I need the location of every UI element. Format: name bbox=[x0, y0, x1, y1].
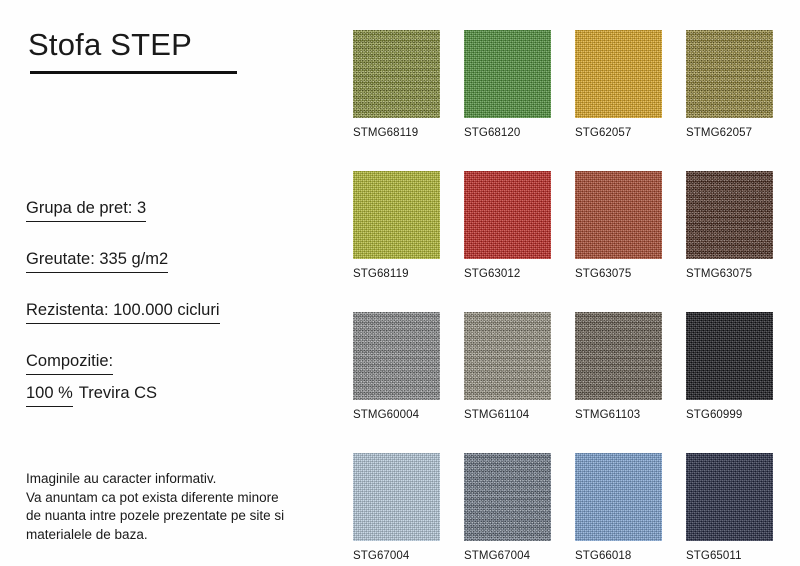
swatch-code-label: STG62057 bbox=[575, 127, 662, 140]
disclaimer-line-3: de nuanta intre pozele prezentate pe sit… bbox=[26, 507, 326, 526]
spec-row-weight: Greutate: 335 g/m2 bbox=[26, 249, 326, 273]
disclaimer-line-1: Imaginile au caracter informativ. bbox=[26, 470, 326, 489]
swatch-code-label: STG68119 bbox=[353, 268, 440, 281]
fabric-swatch-stg66018[interactable] bbox=[575, 453, 662, 541]
swatch-cell[interactable]: STG68119 bbox=[353, 171, 440, 281]
fabric-swatch-stmg60004[interactable] bbox=[353, 312, 440, 400]
swatch-cell[interactable]: STMG61104 bbox=[464, 312, 551, 422]
swatch-code-label: STG65011 bbox=[686, 550, 773, 563]
swatch-cell[interactable]: STG60999 bbox=[686, 312, 773, 422]
swatch-cell[interactable]: STMG61103 bbox=[575, 312, 662, 422]
fabric-swatch-grid: STMG68119STG68120STG62057STMG62057STG681… bbox=[353, 30, 775, 563]
spec-price-group-text: Grupa de pret: 3 bbox=[26, 198, 146, 222]
spec-composition-label: Compozitie: bbox=[26, 351, 113, 375]
swatch-cell[interactable]: STG68120 bbox=[464, 30, 551, 140]
fabric-swatch-stmg63075[interactable] bbox=[686, 171, 773, 259]
spec-row-abrasion-resistance: Rezistenta: 100.000 cicluri bbox=[26, 300, 326, 324]
swatch-code-label: STG60999 bbox=[686, 409, 773, 422]
fabric-swatch-stg63075[interactable] bbox=[575, 171, 662, 259]
swatch-code-label: STG63075 bbox=[575, 268, 662, 281]
swatch-code-label: STMG68119 bbox=[353, 127, 440, 140]
fabric-swatch-stg65011[interactable] bbox=[686, 453, 773, 541]
swatch-code-label: STMG60004 bbox=[353, 409, 440, 422]
swatch-code-label: STMG63075 bbox=[686, 268, 773, 281]
spec-composition-material: Trevira CS bbox=[73, 384, 157, 402]
swatch-code-label: STMG62057 bbox=[686, 127, 773, 140]
swatch-cell[interactable]: STMG60004 bbox=[353, 312, 440, 422]
fabric-swatch-stmg67004[interactable] bbox=[464, 453, 551, 541]
fabric-swatch-stmg61103[interactable] bbox=[575, 312, 662, 400]
swatch-code-label: STMG67004 bbox=[464, 550, 551, 563]
fabric-swatch-stmg62057[interactable] bbox=[686, 30, 773, 118]
swatch-code-label: STG63012 bbox=[464, 268, 551, 281]
disclaimer-line-2: Va anuntam ca pot exista diferente minor… bbox=[26, 489, 326, 508]
swatch-cell[interactable]: STG63075 bbox=[575, 171, 662, 281]
fabric-swatch-stg63012[interactable] bbox=[464, 171, 551, 259]
spec-row-composition-value: 100 %Trevira CS bbox=[26, 383, 326, 407]
swatch-code-label: STMG61104 bbox=[464, 409, 551, 422]
disclaimer-line-4: materialele de baza. bbox=[26, 526, 326, 545]
fabric-swatch-stg68119[interactable] bbox=[353, 171, 440, 259]
spec-row-composition-label: Compozitie: bbox=[26, 351, 326, 375]
spec-row-price-group: Grupa de pret: 3 bbox=[26, 198, 326, 222]
swatch-code-label: STG67004 bbox=[353, 550, 440, 563]
fabric-swatch-stg62057[interactable] bbox=[575, 30, 662, 118]
swatch-cell[interactable]: STMG68119 bbox=[353, 30, 440, 140]
fabric-swatch-stmg68119[interactable] bbox=[353, 30, 440, 118]
swatch-cell[interactable]: STG62057 bbox=[575, 30, 662, 140]
fabric-swatch-stg68120[interactable] bbox=[464, 30, 551, 118]
spec-resistance-text: Rezistenta: 100.000 cicluri bbox=[26, 300, 220, 324]
fabric-swatch-stmg61104[interactable] bbox=[464, 312, 551, 400]
spec-composition-percent: 100 % bbox=[26, 383, 73, 407]
spec-weight-text: Greutate: 335 g/m2 bbox=[26, 249, 168, 273]
swatch-cell[interactable]: STMG63075 bbox=[686, 171, 773, 281]
disclaimer-text: Imaginile au caracter informativ. Va anu… bbox=[26, 470, 326, 544]
swatch-code-label: STG68120 bbox=[464, 127, 551, 140]
fabric-swatch-stg60999[interactable] bbox=[686, 312, 773, 400]
swatch-cell[interactable]: STMG62057 bbox=[686, 30, 773, 140]
page-title: Stofa STEP bbox=[28, 26, 192, 64]
swatch-cell[interactable]: STG66018 bbox=[575, 453, 662, 563]
swatch-cell[interactable]: STG67004 bbox=[353, 453, 440, 563]
swatch-code-label: STMG61103 bbox=[575, 409, 662, 422]
fabric-swatch-stg67004[interactable] bbox=[353, 453, 440, 541]
swatch-cell[interactable]: STG65011 bbox=[686, 453, 773, 563]
swatch-cell[interactable]: STMG67004 bbox=[464, 453, 551, 563]
specification-list: Grupa de pret: 3 Greutate: 335 g/m2 Rezi… bbox=[26, 198, 326, 407]
page-title-underline bbox=[30, 71, 237, 74]
info-panel: Stofa STEP Grupa de pret: 3 Greutate: 33… bbox=[0, 0, 340, 566]
swatch-code-label: STG66018 bbox=[575, 550, 662, 563]
swatch-cell[interactable]: STG63012 bbox=[464, 171, 551, 281]
